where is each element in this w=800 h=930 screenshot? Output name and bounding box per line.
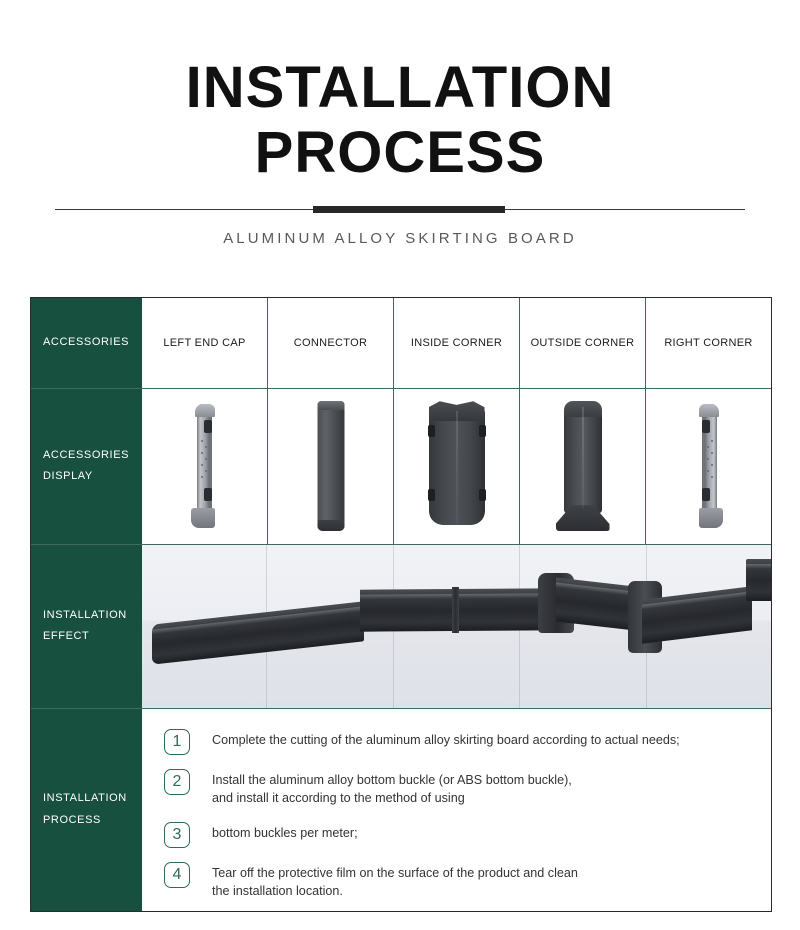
installation-process-row: INSTALLATION PROCESS 1 Complete the cutt… — [31, 708, 771, 912]
installation-effect-row: INSTALLATION EFFECT — [31, 544, 771, 708]
column-header-label: CONNECTOR — [290, 334, 371, 353]
outside-corner-seam — [582, 407, 584, 509]
connector-illustration — [268, 389, 393, 544]
page-title-line-2: PROCESS — [0, 123, 800, 182]
end-cap-clip-lower — [204, 488, 212, 501]
skirting-segment — [746, 559, 771, 601]
right-cap-perforations — [706, 438, 714, 482]
skirting-highlight — [746, 564, 771, 569]
inside-corner-tab — [428, 425, 435, 437]
end-cap-shape — [194, 404, 216, 528]
column-header-connector: CONNECTOR — [267, 298, 393, 388]
skirting-segment — [360, 588, 560, 631]
header-cells: LEFT END CAP CONNECTOR INSIDE CORNER OUT… — [142, 298, 771, 388]
inside-corner-shape — [429, 401, 485, 531]
end-cap-foot — [191, 508, 215, 528]
step-description: Complete the cutting of the aluminum all… — [212, 728, 680, 750]
row-label-effect-line-1: INSTALLATION — [43, 605, 142, 626]
column-header-label: OUTSIDE CORNER — [527, 334, 639, 353]
accessories-display-row: ACCESSORIES DISPLAY — [31, 388, 771, 544]
step-description: Tear off the protective film on the surf… — [212, 861, 578, 901]
skirting-board-installed-photo — [142, 545, 771, 708]
step-description: bottom buckles per meter; — [212, 821, 358, 843]
inside-corner-tab — [479, 425, 486, 437]
end-cap-top — [195, 404, 215, 417]
outside-corner-illustration — [520, 389, 645, 544]
accessory-image-connector — [267, 389, 393, 544]
step-description: Install the aluminum alloy bottom buckle… — [212, 768, 572, 808]
column-header-label: RIGHT CORNER — [660, 334, 756, 353]
column-header-outside-corner: OUTSIDE CORNER — [519, 298, 645, 388]
outside-corner-shape — [556, 401, 610, 531]
row-label-accessories: ACCESSORIES — [31, 298, 142, 388]
step-text-line-1: bottom buckles per meter; — [212, 826, 358, 840]
column-header-label: LEFT END CAP — [159, 334, 249, 353]
process-step: 1 Complete the cutting of the aluminum a… — [164, 728, 753, 755]
process-step: 3 bottom buckles per meter; — [164, 821, 753, 848]
right-cap-clip-lower — [702, 488, 710, 501]
step-number-badge: 3 — [164, 822, 190, 848]
page-subtitle: ALUMINUM ALLOY SKIRTING BOARD — [0, 230, 800, 247]
right-cap-top — [699, 404, 719, 417]
row-label-effect-line-2: EFFECT — [43, 626, 142, 647]
row-label-display-line-2: DISPLAY — [43, 466, 142, 487]
connector-joint — [452, 587, 459, 633]
accessories-table: ACCESSORIES LEFT END CAP CONNECTOR INSID… — [30, 297, 772, 912]
process-step: 4 Tear off the protective film on the su… — [164, 861, 753, 901]
column-header-left-end-cap: LEFT END CAP — [142, 298, 267, 388]
accessories-display-cells — [142, 389, 771, 544]
right-cap-shape — [698, 404, 720, 528]
page-title-line-1: INSTALLATION — [0, 58, 800, 117]
table-header-row: ACCESSORIES LEFT END CAP CONNECTOR INSID… — [31, 298, 771, 388]
row-label-installation-effect: INSTALLATION EFFECT — [31, 545, 142, 708]
right-cap-foot — [699, 508, 723, 528]
inside-corner-tab — [428, 489, 435, 501]
title-divider — [55, 205, 745, 215]
row-label-accessories-text: ACCESSORIES — [43, 332, 142, 353]
inside-corner-seam — [456, 411, 458, 523]
row-label-display-line-1: ACCESSORIES — [43, 445, 142, 466]
connector-shape — [317, 401, 344, 531]
row-label-accessories-display: ACCESSORIES DISPLAY — [31, 389, 142, 544]
page-header: INSTALLATION PROCESS ALUMINUM ALLOY SKIR… — [0, 0, 800, 247]
row-label-process-line-2: PROCESS — [43, 810, 142, 831]
step-text-line-1: Install the aluminum alloy bottom buckle… — [212, 773, 572, 787]
row-label-process-line-1: INSTALLATION — [43, 788, 142, 809]
step-text-line-1: Complete the cutting of the aluminum all… — [212, 733, 680, 747]
column-header-right-corner: RIGHT CORNER — [645, 298, 771, 388]
row-label-installation-process: INSTALLATION PROCESS — [31, 709, 142, 912]
skirting-highlight — [360, 593, 560, 599]
skirting-segment — [152, 601, 364, 664]
step-number-badge: 4 — [164, 862, 190, 888]
column-header-inside-corner: INSIDE CORNER — [393, 298, 519, 388]
end-cap-perforations — [200, 438, 208, 482]
accessory-image-outside-corner — [519, 389, 645, 544]
process-step: 2 Install the aluminum alloy bottom buck… — [164, 768, 753, 808]
step-number-badge: 1 — [164, 729, 190, 755]
step-text-line-2: and install it according to the method o… — [212, 789, 572, 808]
accessory-image-right-corner — [645, 389, 771, 544]
end-cap-clip-upper — [204, 420, 212, 433]
column-header-label: INSIDE CORNER — [407, 334, 506, 353]
divider-thick-bar — [313, 206, 505, 213]
accessory-image-left-end-cap — [142, 389, 267, 544]
step-number-badge: 2 — [164, 769, 190, 795]
right-cap-clip-upper — [702, 420, 710, 433]
right-corner-illustration — [646, 389, 771, 544]
inside-corner-illustration — [394, 389, 519, 544]
inside-corner-tab — [479, 489, 486, 501]
accessory-image-inside-corner — [393, 389, 519, 544]
step-text-line-1: Tear off the protective film on the surf… — [212, 866, 578, 880]
left-end-cap-illustration — [142, 389, 267, 544]
skirting-highlight — [152, 606, 364, 634]
installation-effect-photo-strip — [142, 545, 771, 708]
process-steps-list: 1 Complete the cutting of the aluminum a… — [142, 709, 771, 912]
step-text-line-2: the installation location. — [212, 882, 578, 901]
